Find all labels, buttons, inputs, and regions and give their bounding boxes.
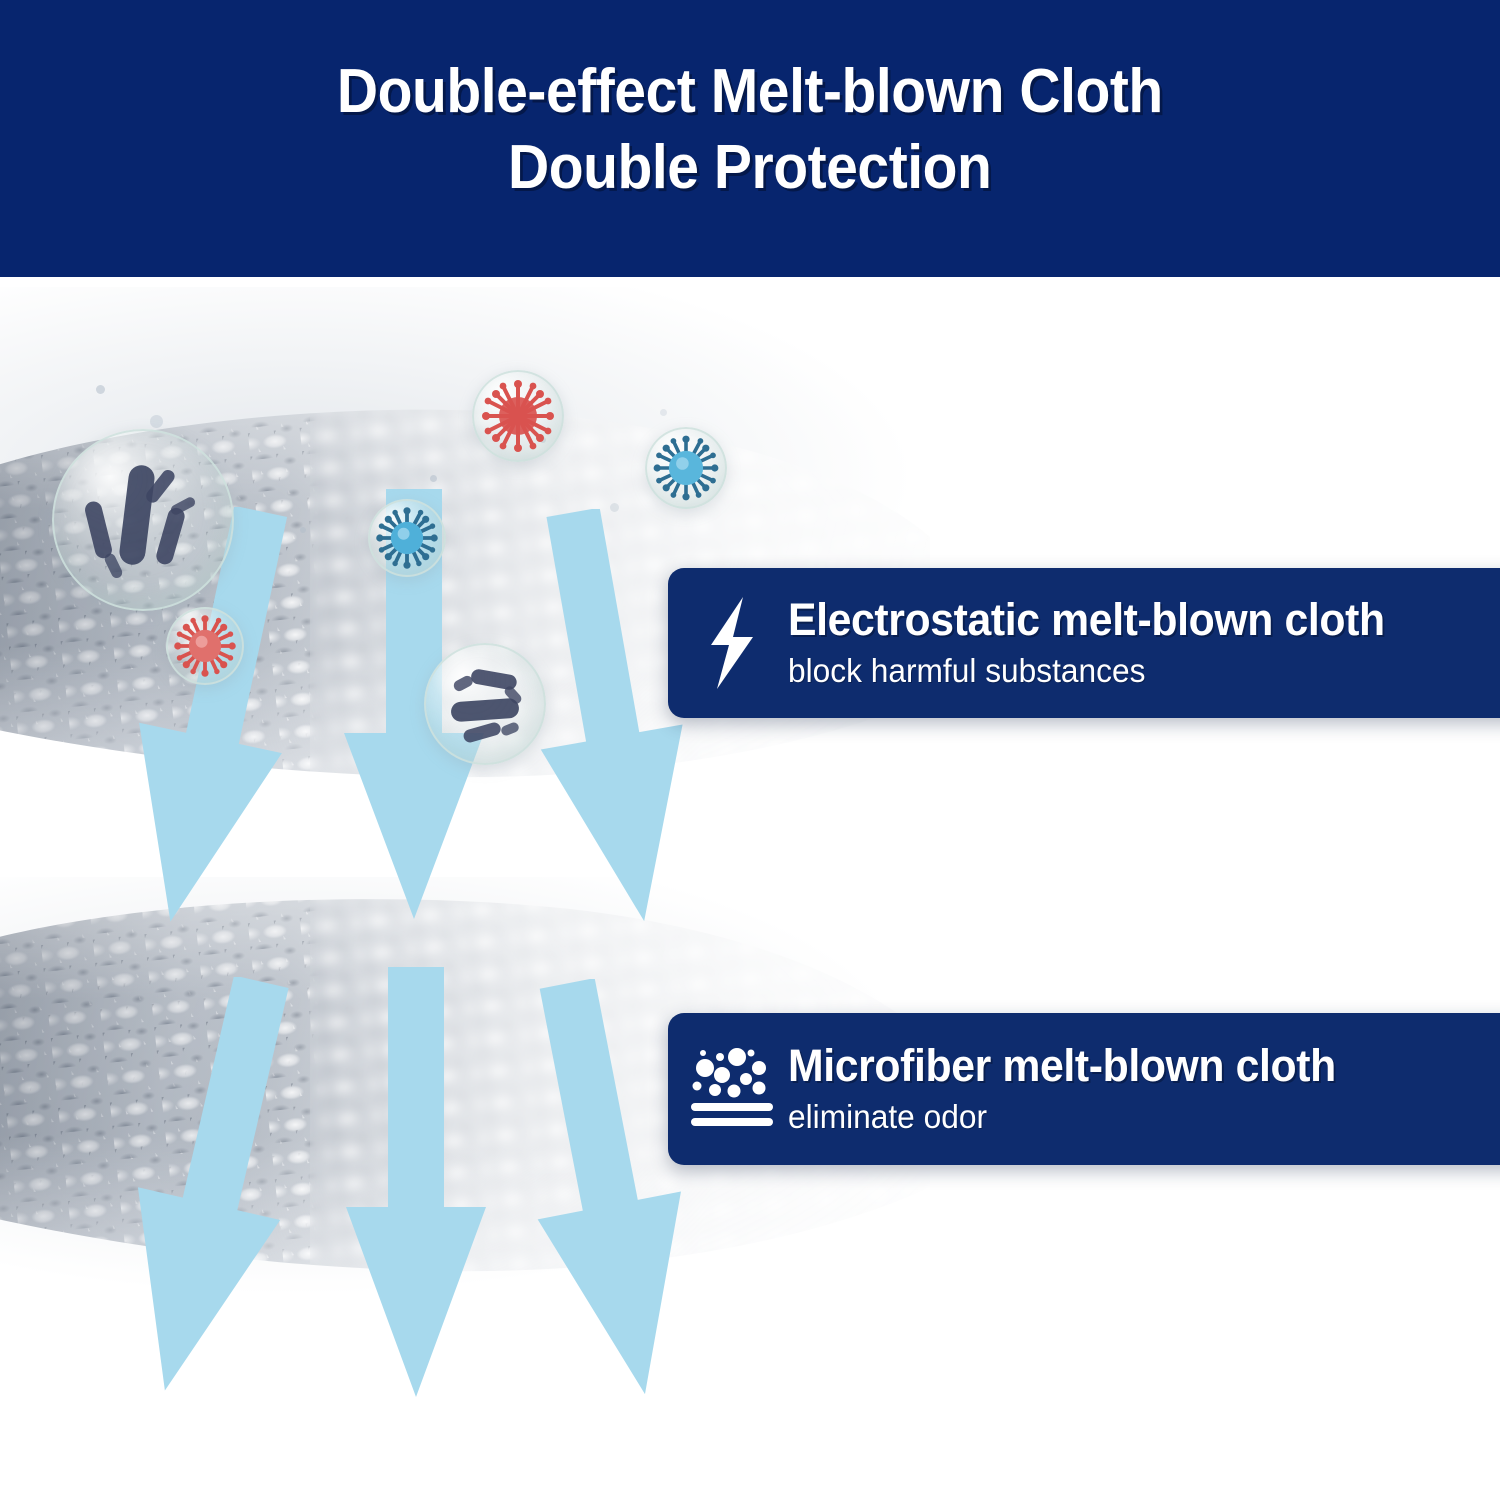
- airflow-arrow-bottom-left: [122, 977, 312, 1397]
- callout-electrostatic-title: Electrostatic melt-blown cloth: [788, 596, 1500, 645]
- virus-icon: [478, 376, 558, 456]
- particles-over-filter-icon: [682, 1048, 782, 1130]
- lightning-bolt-icon: [682, 597, 782, 689]
- virus-icon: [171, 612, 239, 680]
- callout-microfiber[interactable]: Microfiber melt-blown cloth eliminate od…: [668, 1013, 1500, 1165]
- header-title-line-2: Double Protection: [508, 130, 991, 206]
- callout-microfiber-title: Microfiber melt-blown cloth: [788, 1042, 1500, 1091]
- virus-bubble-red-top: [472, 370, 564, 462]
- virus-icon: [650, 432, 722, 504]
- bacteria-bubble-center: [424, 643, 546, 765]
- dust-speck: [610, 503, 619, 512]
- illustration-stage: Electrostatic melt-blown cloth block har…: [0, 277, 1500, 1500]
- callout-microfiber-subtitle: eliminate odor: [788, 1097, 1500, 1137]
- virus-bubble-red-lower: [166, 607, 244, 685]
- bacteria-cluster-icon: [68, 445, 218, 595]
- dust-speck: [660, 409, 667, 416]
- dust-speck: [430, 475, 437, 482]
- dust-speck: [150, 415, 163, 428]
- virus-bubble-blue-top-right: [645, 427, 727, 509]
- dust-speck: [96, 385, 105, 394]
- callout-electrostatic[interactable]: Electrostatic melt-blown cloth block har…: [668, 568, 1500, 718]
- header-banner: Double-effect Melt-blown Cloth Double Pr…: [0, 0, 1500, 277]
- callout-microfiber-text: Microfiber melt-blown cloth eliminate od…: [782, 1042, 1500, 1136]
- callout-electrostatic-text: Electrostatic melt-blown cloth block har…: [782, 596, 1500, 690]
- callout-electrostatic-subtitle: block harmful substances: [788, 651, 1500, 691]
- dust-speck: [300, 527, 306, 533]
- virus-icon: [373, 504, 441, 572]
- bacteria-cluster-icon: [435, 654, 535, 754]
- product-infographic: Double-effect Melt-blown Cloth Double Pr…: [0, 0, 1500, 1500]
- bacteria-bubble-large: [52, 429, 234, 611]
- airflow-arrow-bottom-center: [330, 967, 505, 1397]
- header-title-line-1: Double-effect Melt-blown Cloth: [337, 54, 1163, 130]
- virus-bubble-blue-mid: [368, 499, 446, 577]
